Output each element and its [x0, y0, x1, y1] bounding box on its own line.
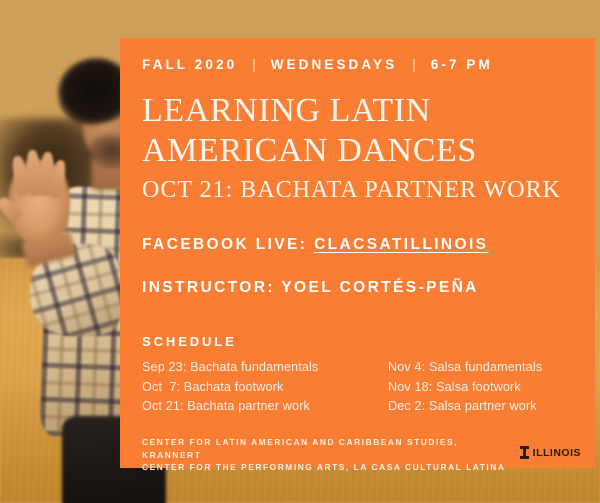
schedule-item: Oct 7: Bachata footwork — [142, 378, 362, 398]
schedule-columns: Sep 23: Bachata fundamentals Oct 7: Bach… — [142, 358, 582, 417]
schedule-item: Nov 4: Salsa fundamentals — [388, 358, 582, 378]
content-panel: FALL 2020 | WEDNESDAYS | 6-7 PM LEARNING… — [120, 38, 595, 468]
schedule-item: Dec 2: Salsa partner work — [388, 397, 582, 417]
illinois-block-i-icon — [520, 446, 529, 459]
schedule-item: Nov 18: Salsa footwork — [388, 378, 582, 398]
instructor-line: INSTRUCTOR: YOEL CORTÉS-PEÑA — [142, 279, 479, 297]
sponsor-line-2: CENTER FOR THE PERFORMING ARTS, LA CASA … — [142, 461, 520, 474]
event-time: 6-7 PM — [431, 57, 493, 72]
meta-separator-1: | — [252, 57, 256, 72]
schedule-column-right: Nov 4: Salsa fundamentals Nov 18: Salsa … — [362, 358, 582, 417]
facebook-handle-link[interactable]: CLACSATILLINOIS — [314, 236, 488, 253]
event-day: WEDNESDAYS — [271, 57, 398, 72]
session-subtitle: OCT 21: BACHATA PARTNER WORK — [142, 177, 561, 204]
schedule-heading: SCHEDULE — [142, 334, 237, 349]
event-term: FALL 2020 — [142, 57, 237, 72]
schedule-column-left: Sep 23: Bachata fundamentals Oct 7: Bach… — [142, 358, 362, 417]
headline-line-2: AMERICAN DANCES — [142, 131, 582, 171]
facebook-live-label: FACEBOOK LIVE: — [142, 236, 307, 253]
page-title: LEARNING LATIN AMERICAN DANCES — [142, 91, 582, 171]
schedule-item: Oct 21: Bachata partner work — [142, 397, 362, 417]
sponsor-line-1: CENTER FOR LATIN AMERICAN AND CARIBBEAN … — [142, 436, 520, 461]
schedule-item: Sep 23: Bachata fundamentals — [142, 358, 362, 378]
event-poster: FALL 2020 | WEDNESDAYS | 6-7 PM LEARNING… — [0, 0, 600, 503]
sponsor-credits: CENTER FOR LATIN AMERICAN AND CARIBBEAN … — [142, 436, 520, 474]
poster-footer: CENTER FOR LATIN AMERICAN AND CARIBBEAN … — [142, 436, 581, 474]
facebook-live-line: FACEBOOK LIVE: CLACSATILLINOIS — [142, 236, 488, 254]
illinois-logo-text: ILLINOIS — [533, 447, 581, 459]
illinois-logo: ILLINOIS — [520, 446, 581, 459]
headline-line-1: LEARNING LATIN — [142, 91, 582, 131]
meta-separator-2: | — [412, 57, 416, 72]
event-meta-bar: FALL 2020 | WEDNESDAYS | 6-7 PM — [142, 57, 493, 72]
